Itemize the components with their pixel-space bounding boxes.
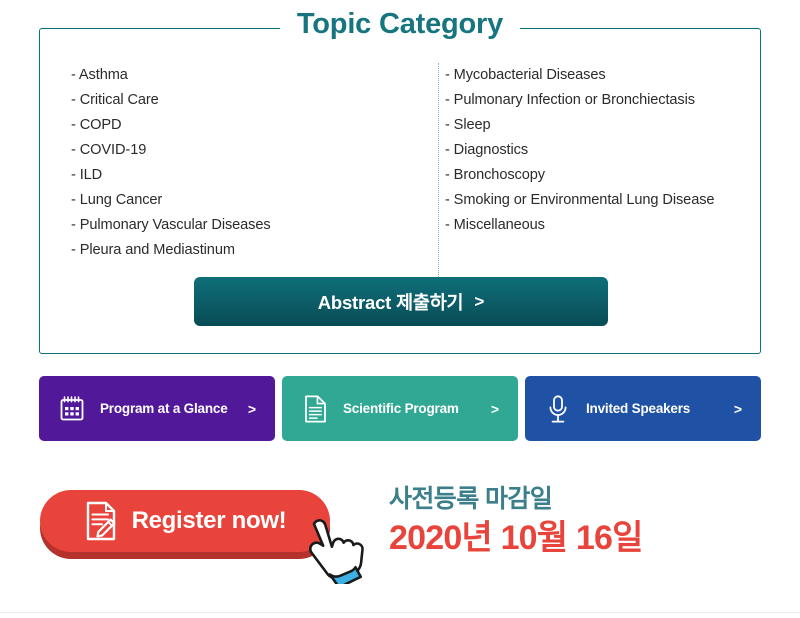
list-item: - Pulmonary Infection or Bronchiectasis bbox=[445, 88, 760, 113]
list-item: - Smoking or Environmental Lung Disease bbox=[445, 188, 760, 213]
list-item: - Miscellaneous bbox=[445, 213, 760, 238]
list-item: - COPD bbox=[71, 113, 405, 138]
chevron-right-icon: > bbox=[474, 292, 484, 312]
list-item: - Bronchoscopy bbox=[445, 163, 760, 188]
chevron-right-icon: > bbox=[491, 401, 499, 417]
topic-columns: - Asthma - Critical Care - COPD - COVID-… bbox=[40, 63, 760, 263]
calendar-icon bbox=[59, 394, 85, 424]
chevron-right-icon: > bbox=[734, 401, 742, 417]
deadline-date: 2020년 10월 16일 bbox=[389, 517, 749, 559]
abstract-submit-label: Abstract 제출하기 bbox=[318, 289, 464, 315]
nav-button-label: Program at a Glance bbox=[100, 401, 228, 416]
registration-section: Register now! 사전등록 마감일 2020년 10월 16일 bbox=[0, 484, 800, 584]
page-title: Topic Category bbox=[280, 2, 520, 46]
register-now-button[interactable]: Register now! bbox=[40, 490, 330, 552]
deadline-block: 사전등록 마감일 2020년 10월 16일 bbox=[389, 484, 749, 559]
nav-button-label: Invited Speakers bbox=[586, 401, 690, 416]
nav-button-scientific-program[interactable]: Scientific Program > bbox=[282, 376, 518, 441]
list-item: - Critical Care bbox=[71, 88, 405, 113]
topic-column-left: - Asthma - Critical Care - COPD - COVID-… bbox=[40, 63, 405, 263]
nav-button-label: Scientific Program bbox=[343, 401, 459, 416]
list-item: - Pleura and Mediastinum bbox=[71, 238, 405, 263]
deadline-heading: 사전등록 마감일 bbox=[389, 484, 749, 514]
chevron-right-icon: > bbox=[248, 401, 256, 417]
column-divider bbox=[438, 63, 439, 285]
list-item: - ILD bbox=[71, 163, 405, 188]
page-title-text: Topic Category bbox=[280, 2, 520, 46]
nav-button-program-at-a-glance[interactable]: Program at a Glance > bbox=[39, 376, 275, 441]
register-now-label: Register now! bbox=[132, 507, 287, 535]
list-item: - Diagnostics bbox=[445, 138, 760, 163]
nav-button-invited-speakers[interactable]: Invited Speakers > bbox=[525, 376, 761, 441]
list-item: - Sleep bbox=[445, 113, 760, 138]
bottom-divider bbox=[0, 612, 800, 613]
list-item: - Mycobacterial Diseases bbox=[445, 63, 760, 88]
list-item: - COVID-19 bbox=[71, 138, 405, 163]
list-item: - Lung Cancer bbox=[71, 188, 405, 213]
list-item: - Asthma bbox=[71, 63, 405, 88]
abstract-submit-button[interactable]: Abstract 제출하기 > bbox=[194, 277, 608, 326]
nav-button-row: Program at a Glance > Scientific Program… bbox=[39, 376, 761, 441]
document-icon bbox=[302, 394, 328, 424]
topic-category-panel: - Asthma - Critical Care - COPD - COVID-… bbox=[39, 28, 761, 354]
list-item: - Pulmonary Vascular Diseases bbox=[71, 213, 405, 238]
microphone-icon bbox=[545, 394, 571, 424]
document-pencil-icon bbox=[84, 501, 118, 541]
topic-column-right: - Mycobacterial Diseases - Pulmonary Inf… bbox=[405, 63, 760, 263]
